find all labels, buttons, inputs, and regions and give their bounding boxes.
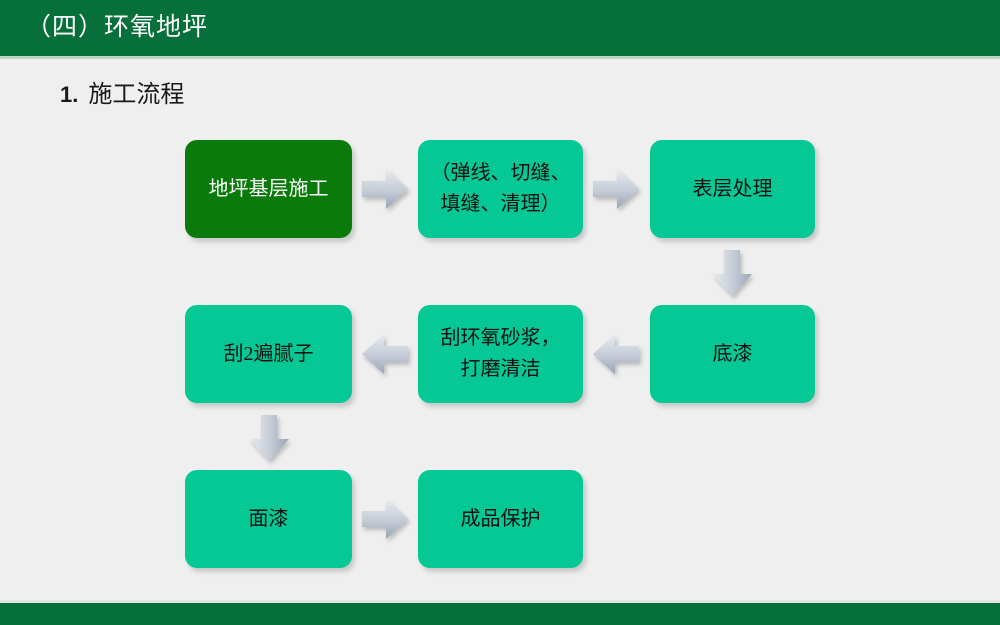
flow-step-5-label: 刮环氧砂浆，打磨清洁 xyxy=(428,323,573,385)
flow-arrow-2-right-icon xyxy=(589,162,643,216)
flow-arrow-7-right-icon xyxy=(358,492,412,546)
slide-canvas: （四）环氧地坪 1.施工流程 地坪基层施工 （弹线、切缝、填缝、清理） xyxy=(0,0,1000,625)
flow-step-5[interactable]: 刮环氧砂浆，打磨清洁 xyxy=(418,305,583,403)
section-title: 施工流程 xyxy=(88,82,184,108)
flow-step-1[interactable]: 地坪基层施工 xyxy=(185,140,352,238)
flow-arrow-4-left-icon xyxy=(589,327,643,381)
flow-step-6[interactable]: 刮2遍腻子 xyxy=(185,305,352,403)
section-heading: 1.施工流程 xyxy=(60,78,184,112)
flow-step-8[interactable]: 成品保护 xyxy=(418,470,583,568)
flow-step-4[interactable]: 底漆 xyxy=(650,305,815,403)
footer-bar xyxy=(0,603,1000,625)
flow-step-3[interactable]: 表层处理 xyxy=(650,140,815,238)
page-title: （四）环氧地坪 xyxy=(26,10,208,46)
header-underline-accent-secondary xyxy=(0,59,1000,62)
flow-step-3-label: 表层处理 xyxy=(660,174,805,205)
flow-arrow-6-down-icon xyxy=(242,411,296,465)
flow-step-2[interactable]: （弹线、切缝、填缝、清理） xyxy=(418,140,583,238)
flow-step-6-label: 刮2遍腻子 xyxy=(195,339,342,370)
flow-step-2-label: （弹线、切缝、填缝、清理） xyxy=(428,158,573,220)
flow-step-8-label: 成品保护 xyxy=(428,504,573,535)
section-number: 1. xyxy=(60,82,78,107)
flow-arrow-1-right-icon xyxy=(358,162,412,216)
flow-arrow-3-down-icon xyxy=(705,246,759,300)
flow-step-4-label: 底漆 xyxy=(660,339,805,370)
flow-step-1-label: 地坪基层施工 xyxy=(195,174,342,205)
flow-step-7[interactable]: 面漆 xyxy=(185,470,352,568)
flow-arrow-5-left-icon xyxy=(358,327,412,381)
flow-step-7-label: 面漆 xyxy=(195,504,342,535)
